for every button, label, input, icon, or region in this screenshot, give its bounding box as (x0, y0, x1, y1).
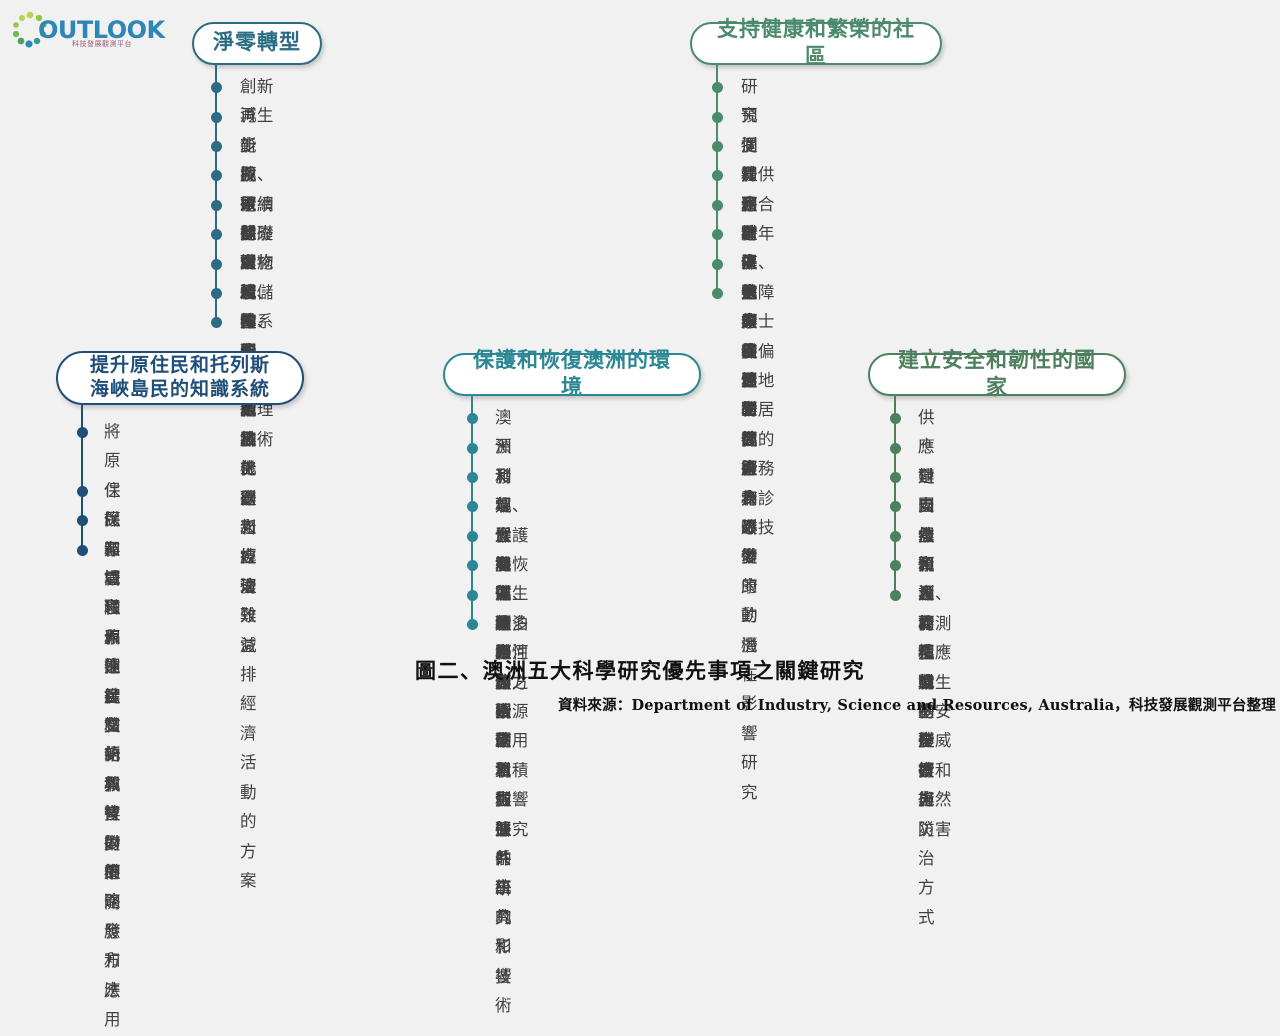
priority-title-label: 支持健康和繁榮的社區 (710, 17, 922, 70)
bullet-dot (211, 259, 222, 270)
priority-title-label: 保護和恢復澳洲的環境 (463, 348, 681, 401)
connector-stem (215, 65, 217, 323)
bullet-dot (890, 501, 901, 512)
research-item[interactable]: 氣候變遷對社區身心健康的潛在影響研究 (741, 279, 758, 808)
outlook-logo: OUTLOOK 科技發展觀測平台 (10, 8, 140, 52)
priority-title-indigenous-knowledge-systems[interactable]: 提升原住民和托列斯 海峽島民的知識系統 (56, 351, 304, 405)
bullet-dot (467, 501, 478, 512)
bullet-dot (211, 82, 222, 93)
priority-title-protect-restore-environment[interactable]: 保護和恢復澳洲的環境 (443, 353, 701, 396)
bullet-dot (211, 112, 222, 123)
bullet-dot (211, 288, 222, 299)
bullet-dot (712, 112, 723, 123)
bullet-dot (890, 443, 901, 454)
bullet-dot (712, 229, 723, 240)
bullet-dot (77, 486, 88, 497)
bullet-dot (467, 443, 478, 454)
figure-source: 資料來源：Department of Industry, Science and… (558, 694, 1276, 715)
bullet-dot (467, 619, 478, 630)
figure-caption: 圖二、澳洲五大科學研究優先事項之關鍵研究 (0, 655, 1280, 685)
bullet-dot (77, 515, 88, 526)
bullet-dot (890, 590, 901, 601)
priority-title-label: 提升原住民和托列斯 海峽島民的知識系統 (90, 354, 270, 402)
priority-title-net-zero-transition[interactable]: 淨零轉型 (192, 22, 322, 65)
bullet-dot (712, 141, 723, 152)
priority-title-label: 建立安全和韌性的國家 (888, 348, 1106, 401)
bullet-dot (712, 170, 723, 181)
bullet-dot (467, 590, 478, 601)
bullet-dot (467, 413, 478, 424)
priority-title-healthy-prosperous-communities[interactable]: 支持健康和繁榮的社區 (690, 22, 942, 65)
bullet-dot (712, 200, 723, 211)
research-item[interactable]: 區域和偏遠社區的氣候變遷適應方法 (104, 536, 121, 1007)
bullet-dot (467, 531, 478, 542)
bullet-dot (712, 82, 723, 93)
bullet-dot (467, 472, 478, 483)
logo-subtitle: 科技發展觀測平台 (72, 39, 132, 49)
priority-title-secure-resilient-nation[interactable]: 建立安全和韌性的國家 (868, 353, 1126, 396)
bullet-dot (77, 545, 88, 556)
bullet-dot (467, 560, 478, 571)
bullet-dot (712, 288, 723, 299)
bullet-dot (890, 413, 901, 424)
bullet-dot (890, 472, 901, 483)
bullet-dot (77, 427, 88, 438)
bullet-dot (890, 560, 901, 571)
bullet-dot (211, 317, 222, 328)
bullet-dot (211, 170, 222, 181)
bullet-dot (211, 141, 222, 152)
bullet-dot (712, 259, 723, 270)
priority-title-label: 淨零轉型 (213, 30, 301, 56)
bullet-dot (890, 531, 901, 542)
bullet-dot (211, 200, 222, 211)
bullet-dot (211, 229, 222, 240)
